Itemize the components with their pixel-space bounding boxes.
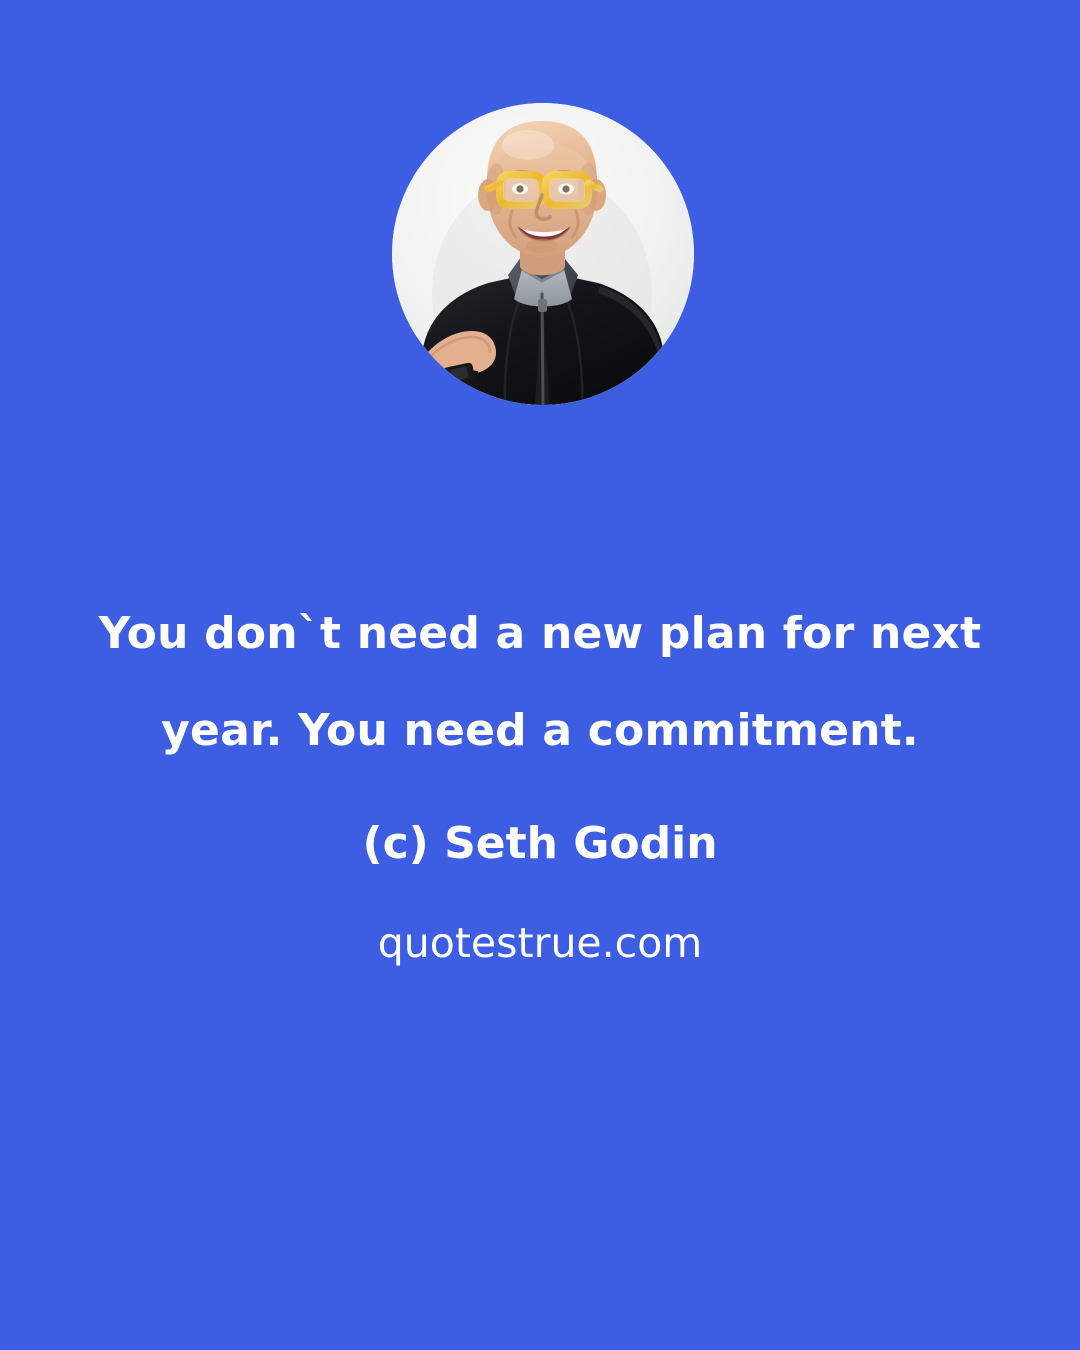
quote-line-1: You don`t need a new plan for next bbox=[0, 585, 1080, 682]
quote-author: (c) Seth Godin bbox=[0, 796, 1080, 892]
quote-block: You don`t need a new plan for next year.… bbox=[0, 585, 1080, 991]
avatar-portrait-icon bbox=[392, 103, 694, 405]
eyeglasses-shape bbox=[488, 175, 600, 205]
portrait-illustration bbox=[392, 103, 694, 405]
quote-line-2: year. You need a commitment. bbox=[0, 682, 1080, 779]
website-attribution: quotestrue.com bbox=[0, 895, 1080, 991]
avatar bbox=[392, 103, 694, 405]
